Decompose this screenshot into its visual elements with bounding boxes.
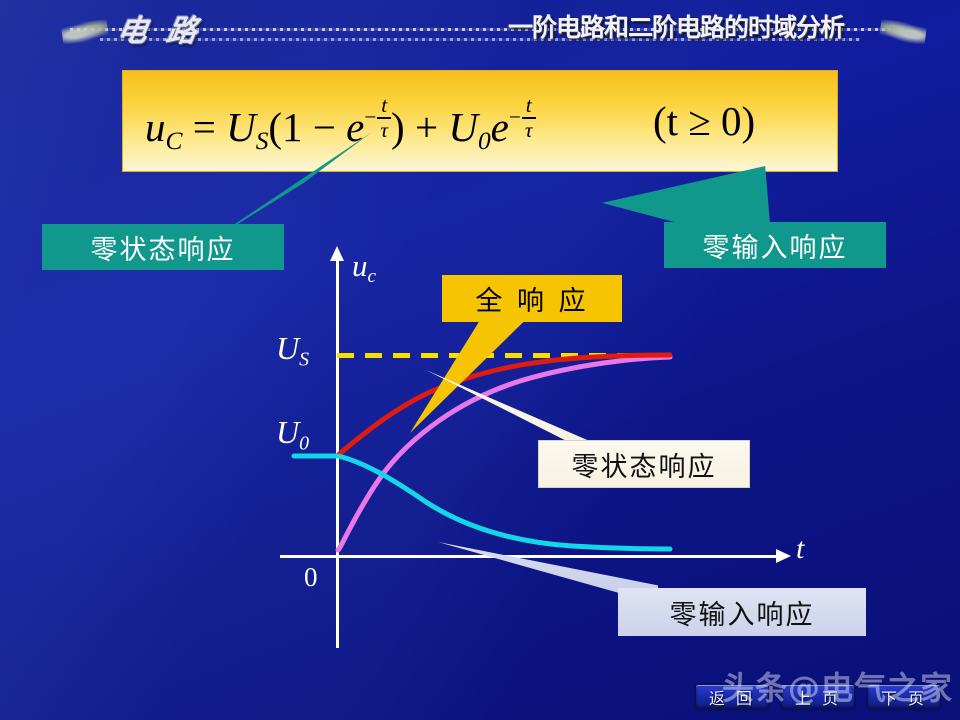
formula-equation: uC = US(1 − e−tτ) + U0e−tτ [145,97,536,156]
formula-us-sub: S [256,127,269,155]
formula-u0-var: U [448,104,478,150]
formula-close-paren: ) [391,104,405,150]
callout-zero-input-top: 零输入响应 [664,222,886,268]
header-flourish-right-icon [879,19,927,45]
formula-box: uC = US(1 − e−tτ) + U0e−tτ (t ≥ 0) [122,70,838,172]
formula-exponent-1: −tτ [364,95,391,141]
next-page-button[interactable]: 下 页 [866,683,942,711]
callout-zero-input-bottom: 零输入响应 [618,588,866,636]
prev-page-button[interactable]: 上 页 [780,683,856,711]
formula-us-var: U [226,104,256,150]
callout-label: 零状态响应 [42,224,284,270]
callout-full-response: 全 响 应 [442,275,622,322]
callout-label: 零状态响应 [538,440,750,488]
formula-exp1-num: t [377,95,391,116]
slide-header: 电 路 一阶电路和二阶电路的时域分析 [0,0,960,52]
formula-equals: = [193,104,216,150]
course-logo: 电 路 [114,6,207,50]
formula-e1: e [346,104,364,150]
back-button[interactable]: 返 回 [694,683,770,711]
page-title: 一阶电路和二阶电路的时域分析 [508,8,844,44]
formula-lhs-sub: C [166,127,183,155]
callout-label: 零输入响应 [618,588,866,636]
header-flourish-left-icon [61,19,109,45]
formula-exp1-den: τ [377,120,391,141]
formula-e2: e [491,104,509,150]
callout-zero-state-top: 零状态响应 [42,224,284,270]
formula-exp2-den: τ [522,120,536,141]
formula-minus: − [313,104,336,150]
formula-open-paren: ( [268,104,282,150]
formula-one: 1 [282,104,303,150]
callout-label: 全 响 应 [442,275,622,322]
formula-plus: + [415,104,438,150]
navigation-bar: 返 回 上 页 下 页 [694,683,942,711]
formula-exp2-minus: − [509,107,521,128]
formula-exp2-num: t [522,95,536,116]
callout-zero-state-mid: 零状态响应 [538,440,750,488]
formula-exponent-2: −tτ [509,95,536,141]
slide-canvas: 电 路 一阶电路和二阶电路的时域分析 uC = US(1 − e−tτ) + U… [0,0,960,720]
formula-condition: (t ≥ 0) [653,97,755,145]
formula-exp1-minus: − [364,107,376,128]
callout-label: 零输入响应 [664,222,886,268]
formula-lhs-var: u [145,104,166,150]
formula-u0-sub: 0 [478,127,491,155]
